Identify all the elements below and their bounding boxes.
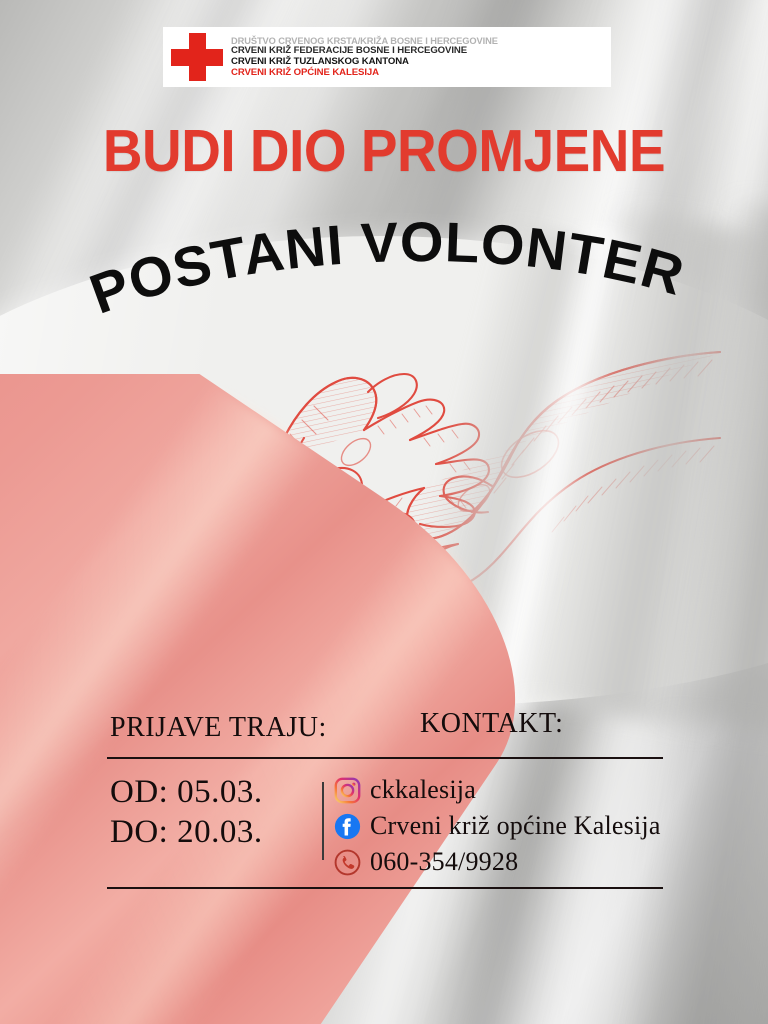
contact-list: ckkalesija Crveni križ općine Kalesija 0… <box>334 772 661 880</box>
applications-label: PRIJAVE TRAJU: <box>110 712 327 744</box>
contact-row-instagram[interactable]: ckkalesija <box>334 772 661 808</box>
red-cross-logo-banner: DRUŠTVO CRVENOG KRSTA/KRIŽA BOSNE I HERC… <box>163 27 611 87</box>
poster-subheadline-arc: POSTANI VOLONTER <box>0 214 768 344</box>
contact-row-phone[interactable]: 060-354/9928 <box>334 844 661 880</box>
application-dates: OD: 05.03. DO: 20.03. <box>110 772 263 853</box>
phone-number: 060-354/9928 <box>370 847 518 877</box>
instagram-handle: ckkalesija <box>370 775 476 805</box>
facebook-icon <box>334 813 361 840</box>
logo-line-4: CRVENI KRIŽ OPĆINE KALESIJA <box>231 68 498 79</box>
volunteer-recruitment-poster: DRUŠTVO CRVENOG KRSTA/KRIŽA BOSNE I HERC… <box>0 0 768 1024</box>
red-cross-icon <box>171 33 223 81</box>
poster-subheadline: POSTANI VOLONTER <box>82 210 692 326</box>
date-to: DO: 20.03. <box>110 812 263 852</box>
phone-icon <box>334 849 361 876</box>
contact-row-facebook[interactable]: Crveni križ općine Kalesija <box>334 808 661 844</box>
logo-text-lines: DRUŠTVO CRVENOG KRSTA/KRIŽA BOSNE I HERC… <box>231 36 498 79</box>
contact-label: KONTAKT: <box>420 708 563 740</box>
divider-bottom <box>107 887 663 889</box>
divider-top <box>107 757 663 759</box>
salmon-swoosh <box>0 374 560 1024</box>
poster-headline: BUDI DIO PROMJENE <box>27 117 741 185</box>
facebook-page-name: Crveni križ općine Kalesija <box>370 811 661 841</box>
salmon-swoosh-highlight <box>0 374 560 1024</box>
instagram-icon <box>334 777 361 804</box>
date-from: OD: 05.03. <box>110 772 263 812</box>
divider-vertical <box>322 782 324 860</box>
